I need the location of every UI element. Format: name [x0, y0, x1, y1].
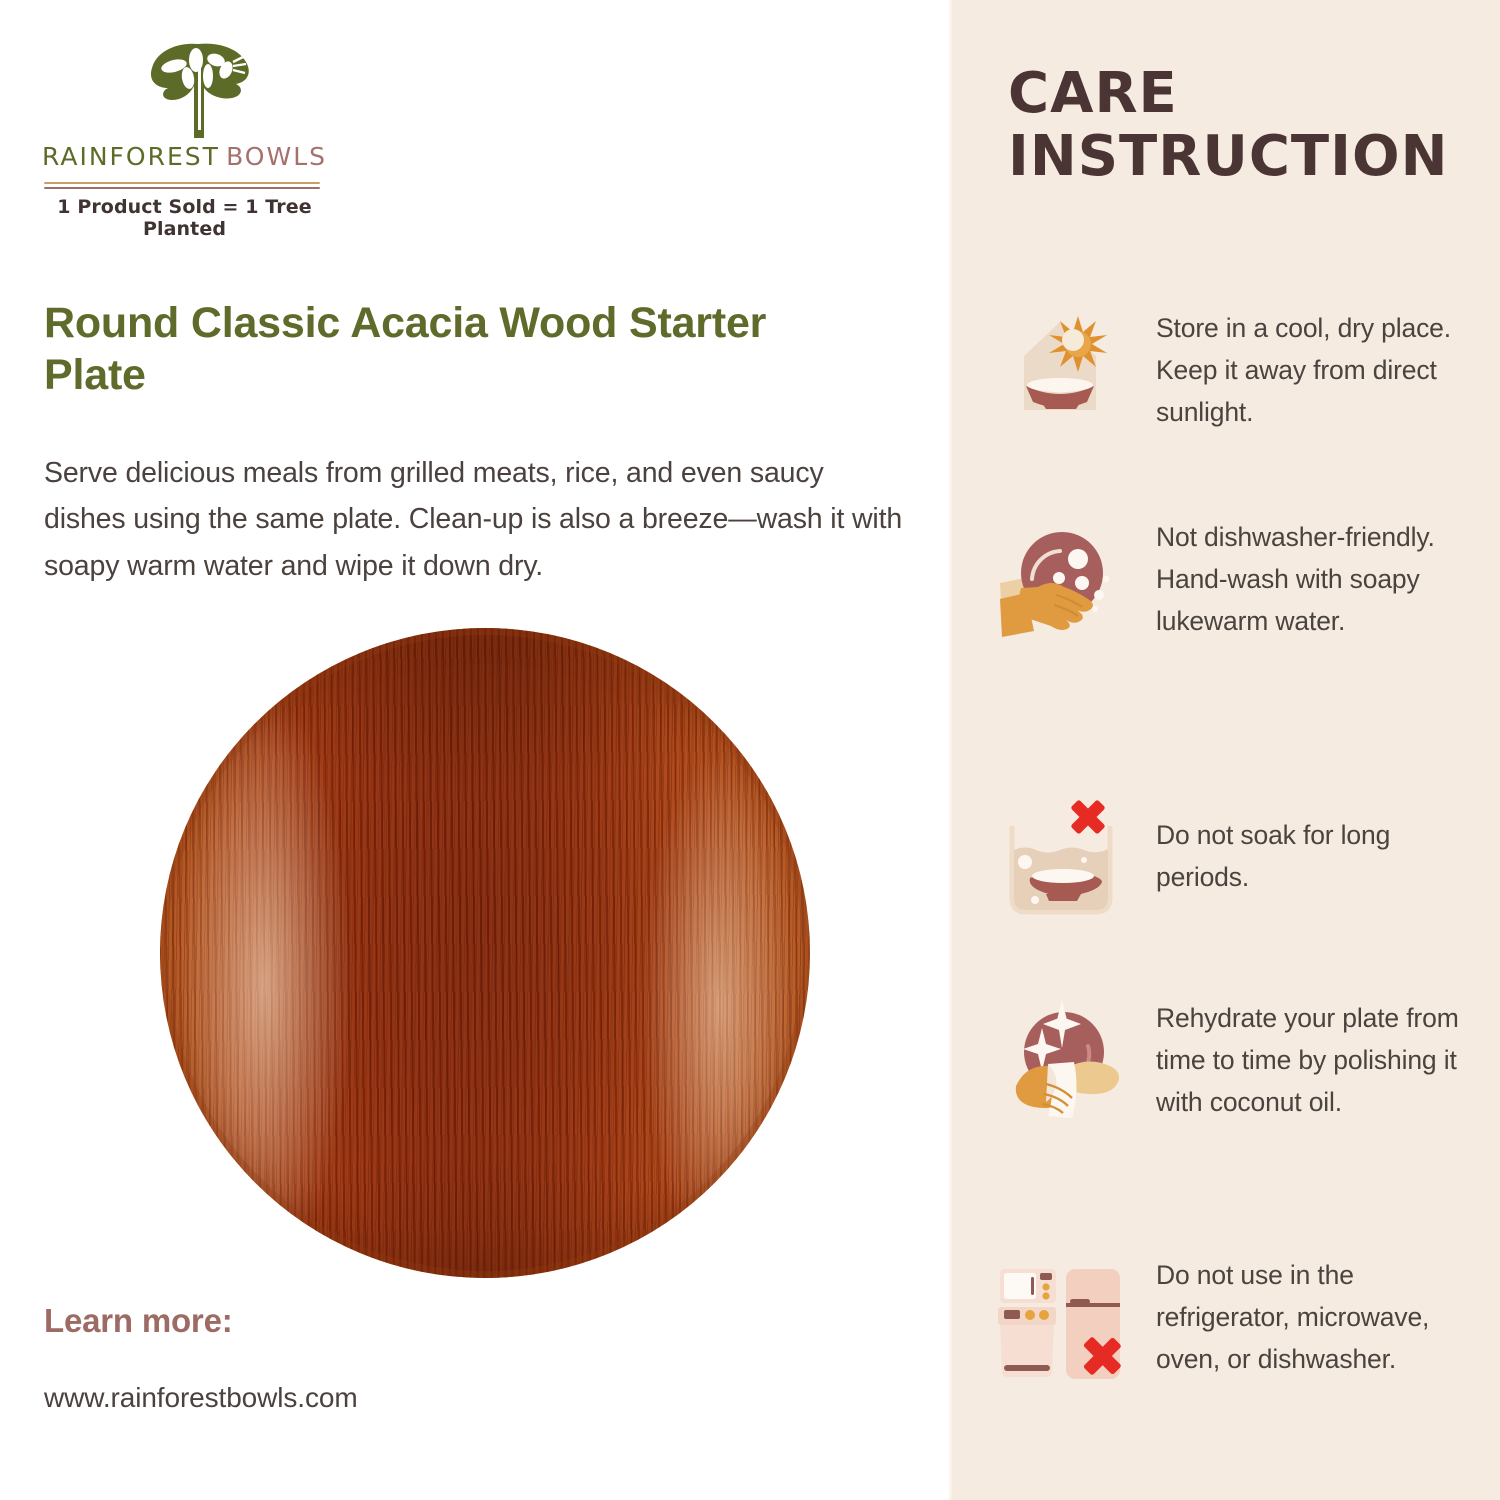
product-panel: RAINFOREST BOWLS 1 Product Sold = 1 Tree…: [0, 0, 952, 1500]
brand-tagline: 1 Product Sold = 1 Tree Planted: [42, 196, 327, 240]
red-x-mark: [1070, 800, 1105, 835]
care-tip-text: Do not soak for long periods.: [1156, 815, 1474, 899]
appliances-microwave-fridge-icon: [998, 1263, 1130, 1389]
care-tip-text: Not dishwasher-friendly. Hand-wash with …: [1156, 517, 1474, 643]
acacia-plate-photo: [160, 628, 810, 1278]
hand-washing-plate-icon: [996, 521, 1126, 645]
product-description: Serve delicious meals from grilled meats…: [44, 450, 904, 589]
care-instruction-panel: CARE INSTRUCTION Store in a cool, dry p: [952, 0, 1500, 1500]
learn-more-label: Learn more:: [44, 1302, 233, 1340]
brand-word-bowls: BOWLS: [226, 142, 327, 171]
care-tip-text: Rehydrate your plate from time to time b…: [1156, 998, 1474, 1124]
bowl-soaking-in-water-icon: [1006, 800, 1130, 920]
brand-word-rainforest: RAINFOREST: [42, 142, 220, 171]
logo-divider-mauve: [44, 187, 320, 189]
hands-polishing-plate-icon: [1002, 994, 1126, 1122]
plate-rim: [160, 628, 810, 1278]
care-tip-text: Do not use in the refrigerator, microwav…: [1156, 1255, 1474, 1381]
logo-divider-gold: [44, 182, 320, 184]
house-with-bowl-and-sun-icon: [1006, 300, 1122, 416]
care-heading: CARE INSTRUCTION: [1008, 62, 1478, 189]
product-title: Round Classic Acacia Wood Starter Plate: [44, 297, 804, 402]
care-tip-text: Store in a cool, dry place. Keep it away…: [1156, 308, 1474, 434]
product-image: [160, 628, 810, 1278]
brand-wordmark: RAINFOREST BOWLS: [42, 142, 327, 171]
care-instruction-infographic: RAINFOREST BOWLS 1 Product Sold = 1 Tree…: [0, 0, 1500, 1500]
acacia-tree-icon: [42, 30, 327, 142]
website-link[interactable]: www.rainforestbowls.com: [44, 1382, 358, 1414]
brand-logo: RAINFOREST BOWLS 1 Product Sold = 1 Tree…: [42, 30, 327, 142]
